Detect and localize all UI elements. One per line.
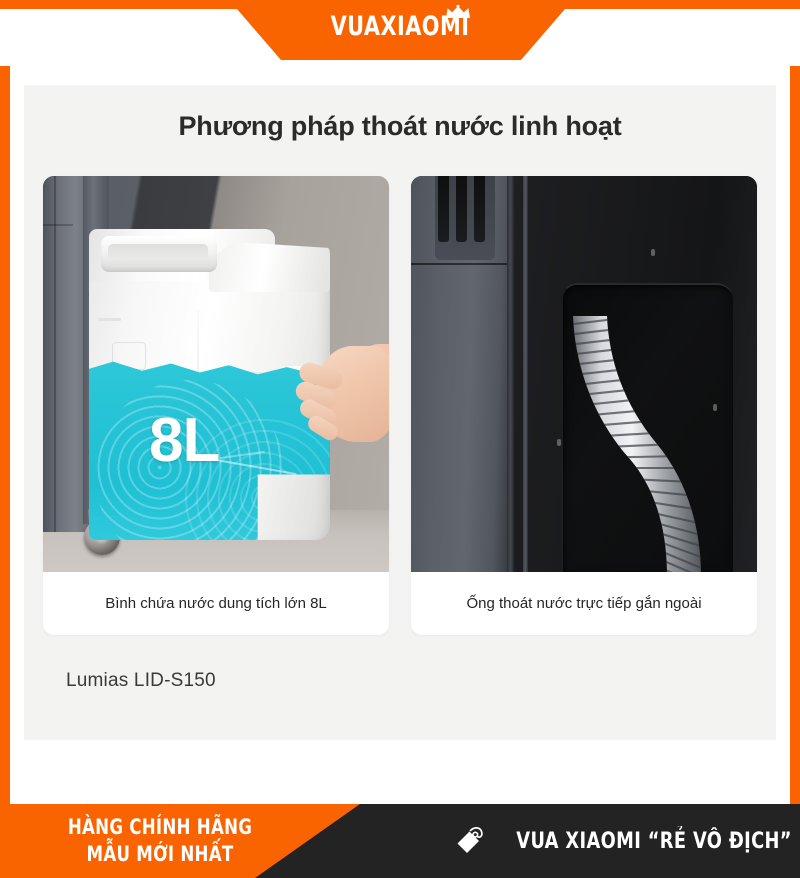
card-caption-drain-hose: Ống thoát nước trực tiếp gắn ngoài — [411, 572, 757, 635]
drain-hose — [551, 316, 711, 572]
tank-shoulder-right — [209, 242, 330, 292]
bottom-right-group: VUA XIAOMI “RẺ VÔ ĐỊCH” — [455, 804, 800, 878]
panel-edge — [523, 176, 528, 572]
air-vent-grille — [435, 176, 495, 260]
water-tank: 8L — [89, 214, 330, 540]
promo-page: VUAXIAOMI Phương pháp thoát nước linh ho… — [0, 0, 800, 878]
price-tag-icon — [455, 824, 489, 858]
capacity-label: 8L — [149, 410, 219, 472]
feature-card-water-tank[interactable]: 8L Bình chứa nước dung tích lớn 8L — [43, 176, 389, 635]
brand-wordmark: VUAXIAOMI — [56, 11, 744, 42]
crown-icon — [445, 5, 471, 19]
hand-graphic — [297, 336, 389, 456]
top-banner: VUAXIAOMI — [0, 0, 800, 66]
left-orange-rail — [0, 0, 10, 878]
tank-ridge — [98, 318, 121, 321]
card-caption-water-tank: Bình chứa nước dung tích lớn 8L — [43, 572, 389, 635]
panel-screw — [713, 404, 717, 411]
bottom-left-slogan-line2: MẪU MỚI NHẤT — [19, 841, 301, 868]
bottom-left-slogan-line1: HÀNG CHÍNH HÃNG — [19, 814, 301, 841]
tank-handle — [101, 236, 217, 272]
bottom-right-slogan: VUA XIAOMI “RẺ VÔ ĐỊCH” — [516, 829, 792, 854]
bottom-left-slogan: HÀNG CHÍNH HÃNG MẪU MỚI NHẤT — [19, 814, 301, 868]
product-name: Lumias LID-S150 — [66, 670, 216, 692]
water-tank-photo: 8L — [43, 176, 389, 572]
feature-cards: 8L Bình chứa nước dung tích lớn 8L — [43, 176, 757, 635]
panel-seam — [411, 263, 507, 265]
page-title: Phương pháp thoát nước linh hoạt — [24, 111, 776, 142]
panel-screw — [651, 249, 655, 256]
feature-card-drain-hose[interactable]: Ống thoát nước trực tiếp gắn ngoài — [411, 176, 757, 635]
right-orange-rail — [790, 0, 800, 878]
content-panel: Phương pháp thoát nước linh hoạt — [24, 85, 776, 740]
drain-hose-photo — [411, 176, 757, 572]
bottom-banner: HÀNG CHÍNH HÃNG MẪU MỚI NHẤT VUA XIAOMI … — [0, 804, 800, 878]
panel-edge — [507, 176, 514, 572]
